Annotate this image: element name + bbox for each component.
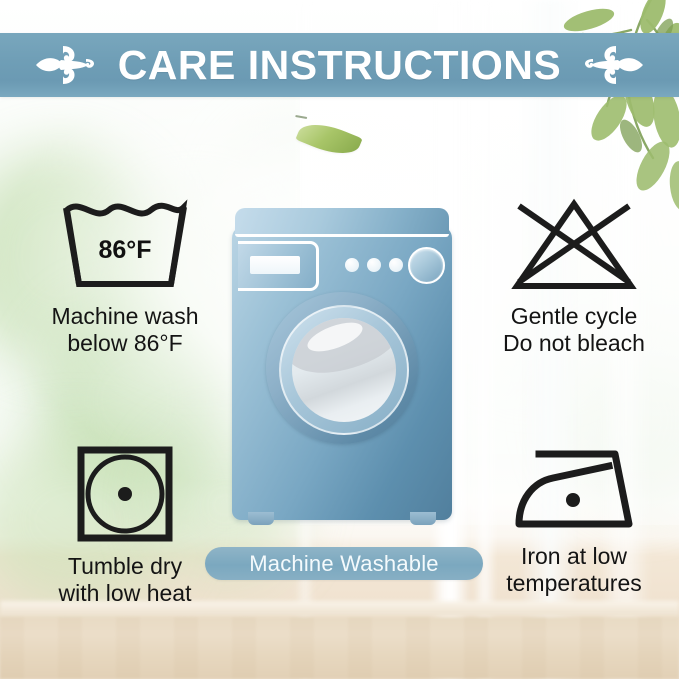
care-icon-iron: Iron at low temperatures (470, 444, 678, 596)
care-icon-label: Tumble dry with low heat (59, 553, 192, 606)
detergent-drawer (238, 241, 319, 291)
header-banner: CARE INSTRUCTIONS (0, 33, 679, 97)
care-icon-do-not-bleach: Gentle cycle Do not bleach (470, 196, 678, 356)
tumble-dry-icon (75, 444, 175, 544)
wooden-table-surface (0, 617, 679, 679)
machine-door (266, 292, 418, 444)
machine-washable-badge: Machine Washable (205, 547, 483, 580)
control-indicator-dot (389, 258, 403, 272)
fleur-de-lis-ornament-left-icon (34, 42, 96, 88)
machine-top-panel (235, 208, 449, 237)
wash-temperature-value: 86°F (57, 236, 193, 265)
care-icon-tumble-dry: Tumble dry with low heat (18, 444, 232, 606)
control-indicator-dot (345, 258, 359, 272)
fleur-de-lis-ornament-right-icon (583, 42, 645, 88)
control-indicator-dot (367, 258, 381, 272)
care-icon-label: Iron at low temperatures (506, 543, 642, 596)
washing-machine-illustration (232, 208, 452, 528)
care-icon-label: Gentle cycle Do not bleach (503, 303, 645, 356)
care-instructions-poster: CARE INSTRUCTIONS 86°F Machine wash belo… (0, 0, 679, 679)
triangle-crossed-icon (505, 196, 643, 294)
wash-tub-wrap: 86°F (57, 196, 193, 294)
care-icon-machine-wash: 86°F Machine wash below 86°F (18, 196, 232, 356)
machine-door-glass (292, 318, 396, 422)
machine-door-ring (279, 305, 409, 435)
badge-label: Machine Washable (249, 553, 438, 575)
program-dial (408, 247, 445, 284)
machine-foot (248, 512, 274, 525)
page-title: CARE INSTRUCTIONS (118, 45, 562, 86)
care-icon-label: Machine wash below 86°F (51, 303, 198, 356)
iron-icon (511, 444, 637, 534)
machine-foot (410, 512, 436, 525)
